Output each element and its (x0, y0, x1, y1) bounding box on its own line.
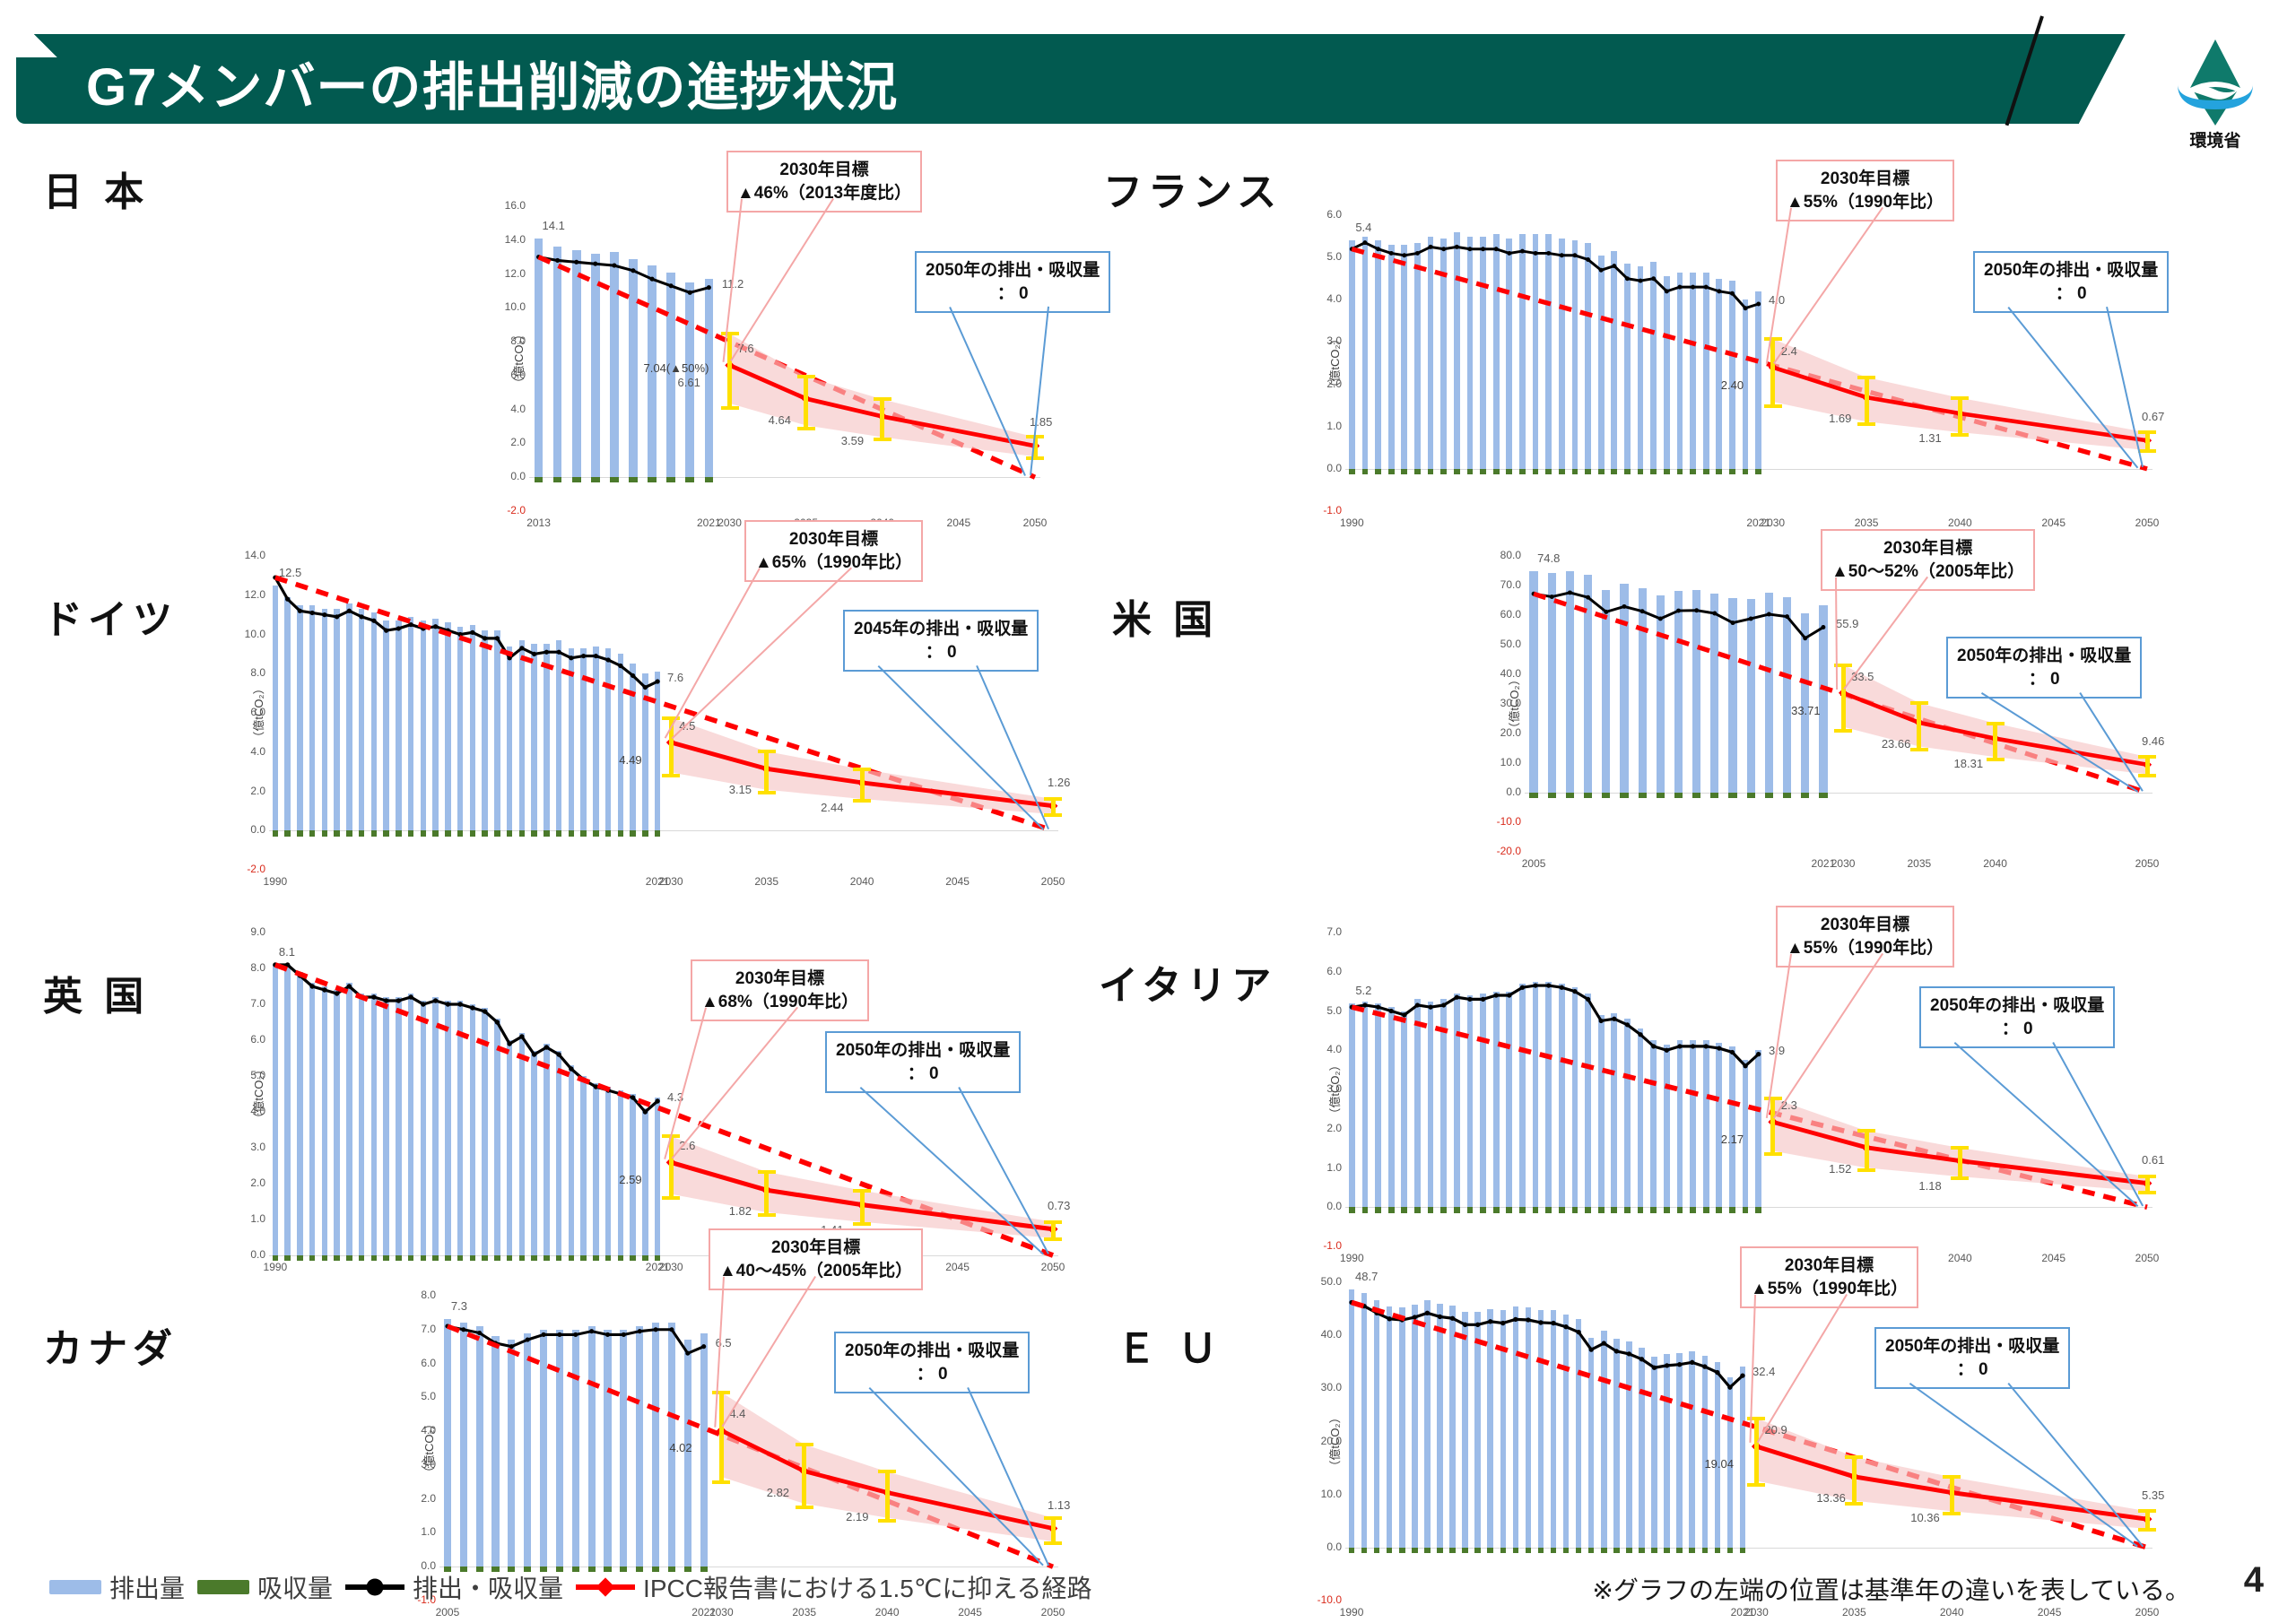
target-callout-japan: 2030年目標▲46%（2013年度比） (726, 151, 922, 213)
projection-value-label: 2.17 (1721, 1133, 1744, 1146)
net-emissions-point (1500, 1321, 1505, 1325)
netzero-callout-line2: ： 0 (854, 641, 1028, 664)
net-emissions-point (631, 268, 635, 273)
net-emissions-point (1717, 289, 1721, 293)
net-emissions-point (688, 291, 692, 295)
x-tick-eu-3: 2035 (1827, 1606, 1881, 1619)
y-tick-eu-0: 50.0 (1304, 1275, 1342, 1288)
net-emissions-point (544, 1045, 549, 1049)
error-bar-cap (721, 406, 739, 410)
projection-value-label: 3.59 (841, 434, 864, 447)
net-emissions-point (1376, 1005, 1380, 1010)
net-emissions-point (360, 614, 364, 619)
y-tick-japan-4: 8.0 (488, 334, 526, 347)
error-bar (1770, 1098, 1775, 1155)
net-emissions-point (1475, 1323, 1480, 1327)
netzero-callout-line2: ： 0 (1957, 668, 2131, 691)
net-emissions-point (555, 258, 560, 263)
x-tick-usa-5: 2050 (2120, 857, 2174, 870)
absorption-bar (432, 1255, 438, 1261)
y-tick-italy-0: 7.0 (1304, 925, 1342, 938)
error-bar (880, 399, 884, 439)
y-tick-canada-1: 7.0 (398, 1323, 436, 1335)
target-callout-germany: 2030年目標▲65%（1990年比） (744, 520, 923, 582)
absorption-bar (445, 1255, 450, 1261)
start-value-label-germany: 12.5 (279, 566, 301, 579)
net-emissions-point (532, 652, 536, 656)
error-bar (802, 1445, 806, 1507)
net-emissions-point (569, 655, 573, 660)
error-bar-cap (1044, 1516, 1062, 1520)
x-tick-italy-6: 2050 (2120, 1252, 2174, 1264)
error-bar-cap (2138, 1528, 2156, 1532)
net-emissions-point (1614, 1349, 1619, 1353)
error-bar (2145, 432, 2150, 451)
net-emissions-point (1586, 997, 1590, 1002)
net-emissions-point (335, 614, 339, 619)
net-emissions-point (1463, 1323, 1467, 1327)
absorption-bar (334, 1255, 339, 1261)
y-tick-japan-9: -2.0 (488, 504, 526, 516)
y-tick-germany-8: -2.0 (228, 863, 265, 875)
net-emissions-point (701, 1344, 706, 1349)
net-emissions-point (569, 1066, 573, 1071)
projection-value-label: 0.73 (1048, 1199, 1070, 1212)
country-label-japan: 日 本 (43, 160, 149, 217)
absorption-bar (569, 1255, 574, 1261)
net-emissions-point (526, 1338, 530, 1342)
netzero-callout-japan: 2050年の排出・吸収量： 0 (915, 251, 1110, 313)
net-emissions-point (1604, 610, 1608, 614)
net-emissions-point (1767, 612, 1771, 617)
net-emissions-point (1785, 614, 1789, 619)
net-emissions-point (669, 283, 674, 288)
net-emissions-point (669, 1327, 674, 1332)
absorption-bar (396, 1255, 401, 1261)
net-emissions-point (347, 609, 352, 613)
y-tick-eu-4: 10.0 (1304, 1488, 1342, 1500)
net-emissions-point (631, 673, 635, 678)
target-callout-usa: 2030年目標▲50～52%（2005年比） (1821, 529, 2035, 591)
net-emissions-point (1586, 257, 1590, 262)
netzero-callout-line1: 2050年の排出・吸収量 (1930, 994, 2104, 1018)
x-tick-canada-3: 2035 (778, 1606, 831, 1619)
error-bar-cap (1943, 1475, 1961, 1479)
y-tick-uk-1: 8.0 (228, 961, 265, 974)
x-tick-germany-2: 2030 (644, 875, 698, 888)
y-tick-uk-5: 4.0 (228, 1105, 265, 1117)
start-value-label-canada: 7.3 (451, 1299, 467, 1313)
start-value-label-uk: 8.1 (279, 945, 295, 959)
x-tick-usa-3: 2035 (1892, 857, 1946, 870)
chart-uk: （億tCO₂）9.08.07.06.05.04.03.02.01.00.0199… (269, 933, 1058, 1255)
projection-value-label: 19.04 (1704, 1457, 1734, 1471)
net-emissions-point (1546, 983, 1551, 987)
net-emissions-point (1441, 1002, 1446, 1007)
x-tick-france-6: 2050 (2120, 516, 2174, 529)
country-label-eu: Ｅ Ｕ (1117, 1316, 1222, 1374)
net-emissions-point (1640, 609, 1645, 613)
net-emissions-point (1652, 1366, 1657, 1370)
error-bar-cap (1026, 456, 1044, 460)
net-emissions-point (421, 1002, 425, 1006)
x-tick-japan-0: 2013 (512, 516, 566, 529)
net-emissions-line (1352, 1302, 1743, 1387)
x-tick-france-2: 2030 (1746, 516, 1800, 529)
net-emissions-point (433, 998, 438, 1002)
net-emissions-point (532, 1052, 536, 1056)
error-bar-cap (878, 1470, 896, 1473)
net-emissions-point (1550, 595, 1554, 599)
target-callout-line1: 2030年目標 (719, 1237, 912, 1260)
net-emissions-point (1704, 285, 1709, 290)
y-tick-canada-3: 5.0 (398, 1390, 436, 1402)
net-emissions-point (309, 984, 314, 988)
y-tick-japan-0: 16.0 (488, 199, 526, 212)
netzero-callout-line2: ： 0 (926, 282, 1100, 306)
absorption-bar (371, 1255, 377, 1261)
country-label-italy: イタリア (1099, 953, 1276, 1011)
y-tick-germany-2: 10.0 (228, 628, 265, 640)
y-tick-italy-2: 5.0 (1304, 1004, 1342, 1017)
projection-value-label: 1.26 (1048, 776, 1070, 789)
error-bar-cap (853, 1222, 871, 1226)
x-tick-france-4: 2040 (1933, 516, 1987, 529)
net-emissions-point (1507, 251, 1511, 256)
target-callout-italy: 2030年目標▲55%（1990年比） (1776, 906, 1954, 968)
net-emissions-point (1576, 1330, 1580, 1334)
target-callout-line2: ▲68%（1990年比） (701, 991, 858, 1014)
x-tick-canada-4: 2040 (860, 1606, 914, 1619)
error-bar-cap (1044, 1541, 1062, 1545)
error-bar-cap (1764, 1097, 1782, 1100)
x-tick-france-0: 1990 (1325, 516, 1378, 529)
y-tick-italy-1: 6.0 (1304, 965, 1342, 977)
error-bar (2145, 1511, 2150, 1530)
net-emissions-point (1402, 253, 1406, 257)
net-emissions-point (1425, 1311, 1430, 1315)
net-emissions-point (618, 664, 622, 668)
net-emissions-point (509, 1344, 514, 1349)
net-emissions-point (396, 998, 401, 1002)
chart-plot-germany (269, 556, 1058, 870)
net-emissions-point (1533, 983, 1537, 987)
net-emissions-point (1740, 1373, 1744, 1377)
target-callout-line1: 2030年目標 (701, 968, 858, 991)
error-bar-cap (797, 427, 815, 430)
country-label-canada: カナダ (43, 1316, 178, 1374)
y-tick-usa-7: 10.0 (1483, 756, 1521, 768)
net-emissions-point (371, 994, 376, 999)
net-emissions-point (495, 636, 500, 640)
target-callout-uk: 2030年目標▲68%（1990年比） (691, 959, 869, 1021)
net-emissions-point (1455, 995, 1459, 1000)
error-bar (1051, 1518, 1056, 1543)
error-bar-cap (1910, 748, 1928, 751)
net-emissions-point (1599, 268, 1604, 273)
netzero-callout-line1: 2045年の排出・吸収量 (854, 618, 1028, 641)
error-bar-cap (797, 375, 815, 378)
error-bar-cap (1943, 1512, 1961, 1515)
legend-absorption: 吸収量 (197, 1569, 333, 1605)
net-emissions-line (448, 1326, 704, 1353)
error-bar (1852, 1457, 1857, 1504)
y-tick-germany-1: 12.0 (228, 588, 265, 601)
error-bar-cap (1044, 1220, 1062, 1224)
target-callout-line1: 2030年目標 (1787, 168, 1944, 191)
net-emissions-point (1520, 249, 1525, 254)
net-emissions-point (1665, 289, 1669, 293)
absorption-bar (507, 1255, 512, 1261)
netzero-callout-line2: ： 0 (1885, 1358, 2059, 1382)
y-tick-usa-8: 0.0 (1483, 785, 1521, 798)
projection-value-label: 2.44 (821, 801, 843, 814)
net-emissions-point (1438, 1315, 1442, 1319)
error-bar-cap (712, 1391, 730, 1394)
net-emissions-point (310, 611, 315, 615)
y-tick-usa-3: 50.0 (1483, 638, 1521, 650)
legend-ipcc-label: IPCC報告書における1.5℃に抑える経路 (643, 1569, 1091, 1605)
net-emissions-point (1572, 253, 1577, 257)
x-tick-uk-5: 2045 (931, 1261, 985, 1273)
legend-absorption-swatch (197, 1580, 249, 1594)
net-emissions-point (1415, 251, 1420, 256)
legend-absorption-label: 吸収量 (257, 1569, 333, 1605)
net-emissions-line (1352, 243, 1758, 308)
net-emissions-point (1691, 285, 1695, 290)
net-emissions-point (1563, 1324, 1568, 1329)
net-emissions-point (507, 1041, 511, 1046)
y-tick-france-5: 1.0 (1304, 420, 1342, 432)
country-label-uk: 英 国 (43, 964, 149, 1021)
net-emissions-point (1691, 1044, 1695, 1048)
x-tick-canada-6: 2050 (1026, 1606, 1080, 1619)
net-emissions-point (1520, 985, 1525, 990)
error-bar-cap (662, 774, 680, 777)
y-tick-uk-0: 9.0 (228, 925, 265, 938)
x-tick-germany-5: 2045 (931, 875, 985, 888)
error-bar-cap (1764, 337, 1782, 341)
error-bar (764, 1172, 769, 1215)
absorption-bar (494, 1255, 500, 1261)
start-value-label-eu: 48.7 (1355, 1270, 1378, 1283)
net-emissions-point (335, 991, 339, 995)
error-bar (719, 1393, 724, 1482)
net-emissions-point (1599, 1019, 1604, 1023)
y-tick-japan-2: 12.0 (488, 267, 526, 280)
net-emissions-line (1534, 593, 1823, 638)
projection-value-label: 3.15 (729, 783, 752, 796)
error-bar-cap (758, 1213, 776, 1217)
y-tick-canada-5: 3.0 (398, 1458, 436, 1471)
net-emissions-point (1568, 590, 1572, 595)
error-bar (1958, 398, 1962, 435)
absorption-bar (383, 1255, 388, 1261)
net-emissions-point (1749, 616, 1753, 621)
net-emissions-point (457, 1002, 462, 1006)
netzero-callout-italy: 2050年の排出・吸収量： 0 (1919, 986, 2115, 1048)
error-bar (1841, 665, 1846, 731)
legend-ipcc-marker (576, 1584, 635, 1590)
net-emissions-point (581, 654, 586, 658)
moe-logo (2161, 32, 2269, 131)
error-bar-cap (1951, 1146, 1969, 1150)
net-emissions-point (1428, 1005, 1432, 1010)
absorption-bar (346, 1255, 352, 1261)
y-tick-canada-4: 4.0 (398, 1424, 436, 1436)
netzero-callout-line1: 2050年の排出・吸収量 (845, 1340, 1019, 1363)
net-emissions-point (1702, 1364, 1707, 1368)
net-emissions-point (483, 636, 487, 640)
x-tick-usa-0: 2005 (1507, 857, 1561, 870)
error-bar-cap (796, 1443, 813, 1446)
y-tick-eu-1: 40.0 (1304, 1328, 1342, 1341)
error-bar (885, 1471, 890, 1521)
projection-value-label: 1.18 (1918, 1179, 1941, 1193)
net-emissions-point (1658, 616, 1663, 621)
net-emissions-point (1560, 253, 1564, 257)
error-bar-cap (1951, 1176, 1969, 1180)
error-bar-cap (853, 799, 871, 803)
x-tick-eu-0: 1990 (1325, 1606, 1378, 1619)
error-bar (1770, 339, 1775, 406)
y-tick-uk-4: 5.0 (228, 1069, 265, 1081)
y-tick-italy-3: 4.0 (1304, 1043, 1342, 1055)
y-tick-usa-0: 80.0 (1483, 549, 1521, 561)
netzero-callout-line2: ： 0 (845, 1363, 1019, 1386)
legend-net-marker (345, 1584, 404, 1590)
net-emissions-point (396, 626, 401, 630)
netzero-callout-uk: 2050年の排出・吸収量： 0 (825, 1031, 1021, 1093)
netzero-callout-eu: 2050年の排出・吸収量： 0 (1874, 1327, 2070, 1389)
net-emissions-point (1455, 245, 1459, 249)
y-tick-eu-3: 20.0 (1304, 1435, 1342, 1447)
error-bar-cap (2138, 1191, 2156, 1194)
target-callout-line2: ▲55%（1990年比） (1751, 1278, 1908, 1301)
chart-canada: （億tCO₂）8.07.06.05.04.03.02.01.00.0-1.020… (439, 1296, 1058, 1601)
projection-value-label: 4.64 (769, 413, 791, 427)
y-tick-uk-9: 0.0 (228, 1248, 265, 1261)
x-tick-canada-0: 2005 (421, 1606, 474, 1619)
net-emissions-point (1526, 1317, 1530, 1322)
netzero-callout-line2: ： 0 (1984, 282, 2158, 306)
chart-plot-usa (1525, 556, 2152, 852)
net-emissions-point (1676, 609, 1681, 613)
net-emissions-point (1715, 1370, 1719, 1375)
absorption-bar (519, 1255, 525, 1261)
netzero-callout-germany: 2045年の排出・吸収量： 0 (843, 610, 1039, 672)
error-bar-cap (796, 1506, 813, 1509)
net-emissions-point (605, 1332, 610, 1337)
y-tick-france-1: 5.0 (1304, 250, 1342, 263)
net-emissions-point (1551, 1321, 1555, 1325)
y-tick-japan-7: 2.0 (488, 436, 526, 448)
net-emissions-point (655, 1098, 659, 1103)
projection-value-label: 5.35 (2142, 1488, 2164, 1502)
absorption-bar (322, 1255, 327, 1261)
y-tick-uk-3: 6.0 (228, 1033, 265, 1046)
net-emissions-point (556, 1052, 561, 1056)
x-tick-uk-6: 2050 (1026, 1261, 1080, 1273)
net-emissions-point (1389, 1009, 1394, 1013)
net-emissions-point (1638, 1032, 1642, 1037)
netzero-callout-line1: 2050年の排出・吸収量 (926, 259, 1100, 282)
x-tick-uk-2: 2030 (644, 1261, 698, 1273)
y-tick-uk-8: 1.0 (228, 1212, 265, 1225)
error-bar-cap (721, 332, 739, 335)
y-tick-germany-6: 2.0 (228, 785, 265, 797)
moe-logo-text: 環境省 (2158, 127, 2273, 152)
chart-usa: （億tCO₂）80.070.060.050.040.030.020.010.00… (1525, 556, 2152, 852)
net-emissions-point (1450, 1316, 1455, 1321)
net-emissions-point (477, 1331, 482, 1335)
error-bar-cap (758, 791, 776, 794)
net-emissions-point (470, 1005, 474, 1010)
projection-value-label: 13.36 (1816, 1491, 1846, 1505)
net-emissions-point (1690, 1360, 1694, 1365)
netzero-callout-line1: 2050年の排出・吸収量 (836, 1039, 1010, 1063)
y-tick-france-7: -1.0 (1304, 504, 1342, 516)
target-callout-line2: ▲55%（1990年比） (1787, 191, 1944, 214)
error-bar (1754, 1419, 1759, 1485)
net-emissions-point (1589, 1347, 1594, 1351)
net-emissions-point (495, 1020, 500, 1024)
y-tick-japan-5: 6.0 (488, 369, 526, 381)
start-value-label-france: 5.4 (1355, 221, 1371, 234)
net-emissions-point (1622, 604, 1626, 609)
net-emissions-point (1546, 251, 1551, 256)
absorption-bar (544, 1255, 549, 1261)
projection-value-label: 6.61 (678, 376, 700, 389)
absorption-bar (408, 1255, 413, 1261)
y-tick-usa-6: 20.0 (1483, 726, 1521, 739)
net-emissions-point (1704, 1044, 1709, 1048)
net-emissions-point (1612, 264, 1616, 268)
legend-emissions-label: 排出量 (109, 1569, 185, 1605)
net-emissions-point (433, 624, 438, 629)
net-emissions-point (707, 285, 711, 290)
x-tick-italy-0: 1990 (1325, 1252, 1378, 1264)
y-tick-japan-3: 10.0 (488, 300, 526, 313)
projection-value-label: 0.61 (2142, 1153, 2164, 1167)
netzero-callout-usa: 2050年の排出・吸収量： 0 (1946, 637, 2142, 699)
net-emissions-point (285, 597, 290, 602)
projection-value-label: 23.66 (1882, 737, 1911, 751)
net-emissions-point (322, 612, 326, 617)
error-bar-cap (853, 768, 871, 771)
net-emissions-point (1481, 997, 1485, 1002)
page-title: G7メンバーの排出削減の進捗状況 (86, 45, 898, 120)
x-tick-italy-5: 2045 (2027, 1252, 2081, 1264)
start-value-label-italy: 5.2 (1355, 984, 1371, 997)
error-bar-cap (1764, 1152, 1782, 1156)
net-emissions-point (631, 1095, 635, 1099)
net-emissions-point (1625, 1022, 1630, 1027)
country-label-germany: ドイツ (43, 587, 178, 645)
legend-net-label: 排出・吸収量 (413, 1569, 563, 1605)
chart-eu: （億tCO₂）50.040.030.020.010.00.0-10.019902… (1345, 1282, 2152, 1601)
net-emissions-point (1415, 1002, 1420, 1007)
net-emissions-point (573, 1332, 578, 1337)
country-label-france: フランス (1103, 160, 1282, 217)
projection-value-label: 4.49 (619, 753, 641, 767)
projection-value-label: 10.36 (1910, 1511, 1940, 1524)
error-bar-cap (874, 397, 891, 401)
error-bar-cap (1857, 1129, 1875, 1133)
net-emissions-point (1362, 1002, 1367, 1007)
error-bar (804, 377, 808, 429)
net-emissions-point (1730, 1050, 1735, 1055)
